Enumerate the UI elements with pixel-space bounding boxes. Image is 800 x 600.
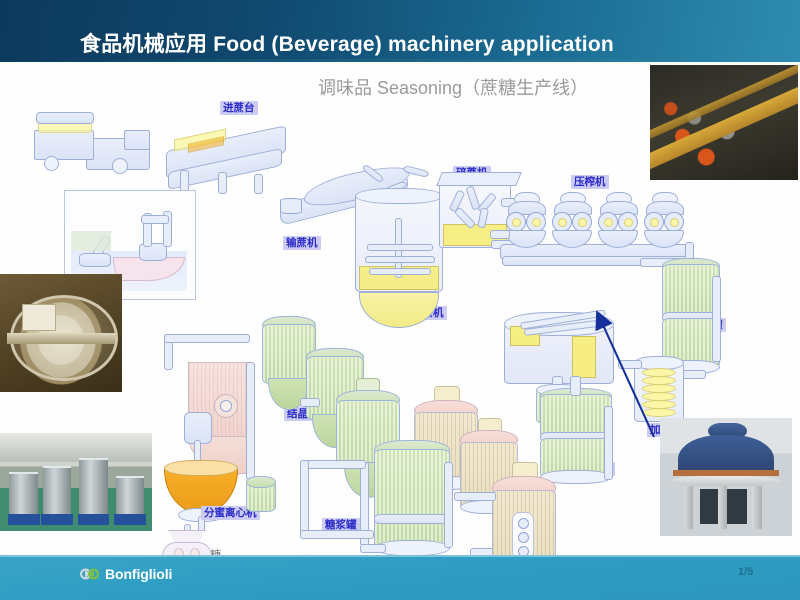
syrup-feed-pipe — [300, 460, 366, 469]
photo-extractor-bar — [7, 333, 114, 344]
photo-tower-railing — [673, 470, 779, 476]
syrup-bottom-pipe — [300, 530, 374, 539]
honey-extractor-photo — [0, 274, 122, 392]
photo-drum-4 — [116, 476, 145, 517]
photo-tower-dome — [678, 435, 773, 475]
photo-tower-column-2 — [718, 486, 727, 528]
bonfiglioli-mark-icon — [80, 567, 100, 581]
photo-tower-slab — [671, 476, 782, 487]
page-number: 1/5 — [738, 566, 753, 578]
photo-drum-3 — [79, 458, 108, 517]
photo-drum-2 — [43, 466, 72, 517]
photo-tower-column-3 — [752, 486, 761, 528]
label-cane-conveyor: 输蔗机 — [283, 236, 321, 250]
mill-rollers-photo — [650, 65, 798, 180]
photo-extractor-motor — [22, 304, 56, 332]
footer-divider — [0, 555, 800, 557]
evaporator-link-pipe-3 — [454, 492, 496, 501]
photo-base-1 — [8, 514, 40, 525]
mill-outlet-pipe — [490, 230, 510, 239]
slide: 食品机械应用 Food (Beverage) machinery applica… — [0, 0, 800, 600]
centrifuge-row-photo — [0, 433, 152, 531]
photo-drum-1 — [9, 472, 38, 517]
diagram-canvas: 调味品 Seasoning（蔗糖生产线） 进蔗台 输蔗机 — [0, 62, 800, 555]
page-title: 食品机械应用 Food (Beverage) machinery applica… — [80, 28, 614, 58]
cane-cutter-illustration — [353, 188, 447, 328]
cane-truck-illustration — [28, 100, 188, 180]
label-cane-feed-table: 进蔗台 — [220, 101, 258, 115]
photo-base-4 — [114, 514, 146, 525]
slide-header: 食品机械应用 Food (Beverage) machinery applica… — [0, 0, 800, 62]
syrup-feed-riser — [300, 460, 309, 536]
label-mill-press: 压榨机 — [571, 175, 609, 189]
photo-base-3 — [78, 514, 110, 525]
photo-base-2 — [41, 514, 73, 525]
photo-ceiling — [0, 433, 152, 462]
brand-name: Bonfiglioli — [105, 566, 172, 582]
photo-tower-column-1 — [684, 486, 693, 528]
diagram-subtitle: 调味品 Seasoning（蔗糖生产线） — [318, 74, 588, 100]
centrifuge-illustration — [246, 476, 278, 516]
brand-logo: Bonfiglioli — [80, 566, 172, 582]
clarifier-tower-photo — [660, 418, 792, 536]
